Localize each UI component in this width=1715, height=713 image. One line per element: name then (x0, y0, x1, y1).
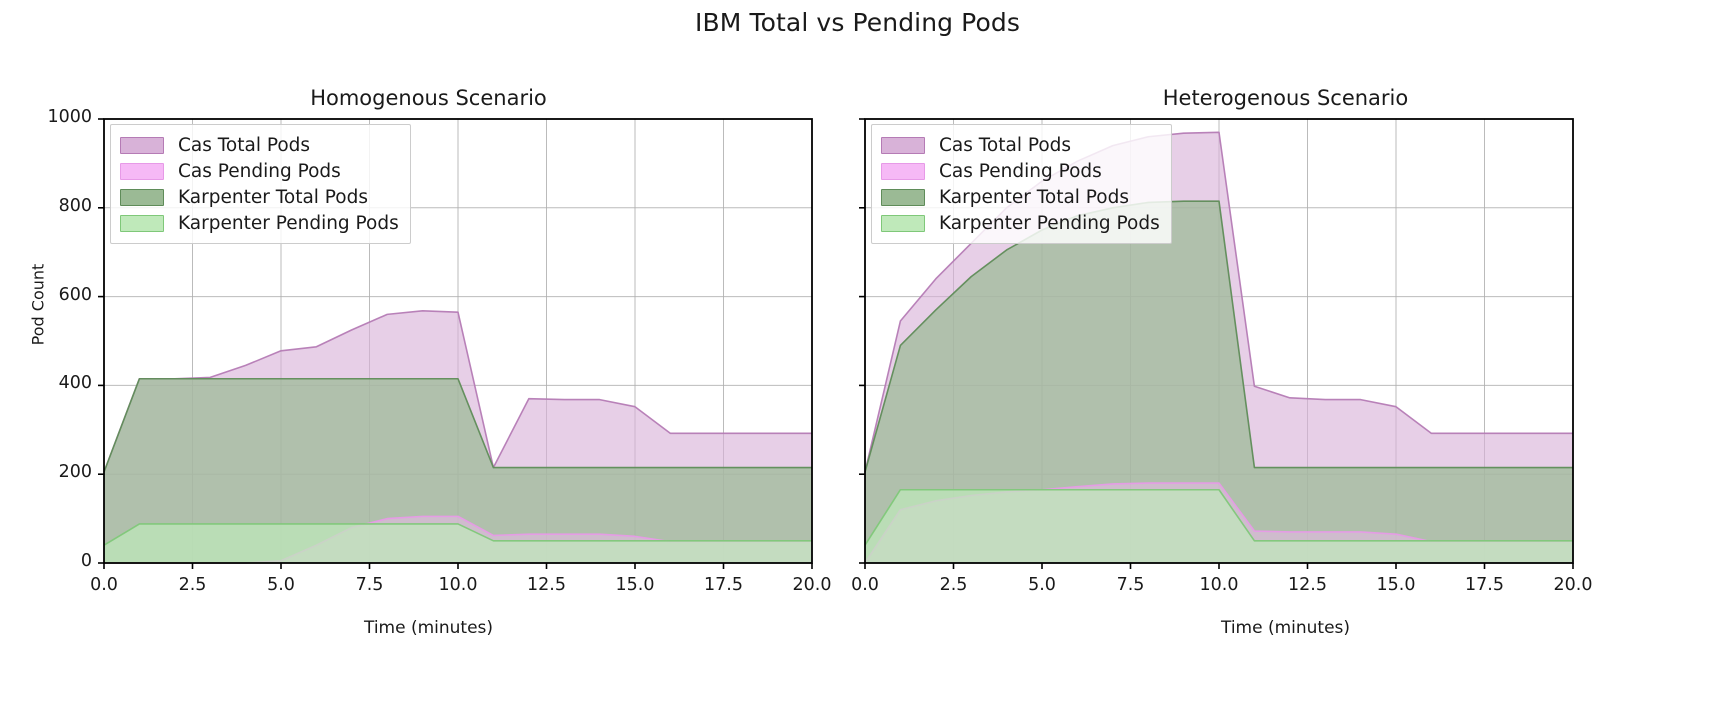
legend-label: Karpenter Pending Pods (939, 213, 1160, 234)
legend-swatch-icon (881, 215, 925, 232)
legend-label: Cas Total Pods (939, 135, 1071, 156)
x-tick-label: 15.0 (600, 575, 670, 595)
legend-item[interactable]: Karpenter Pending Pods (881, 210, 1160, 236)
x-tick-label: 5.0 (1007, 575, 1077, 595)
x-tick-label: 10.0 (423, 575, 493, 595)
x-tick-label: 2.5 (158, 575, 228, 595)
legend-label: Karpenter Total Pods (178, 187, 368, 208)
legend-swatch-icon (120, 215, 164, 232)
y-tick-label: 1000 (30, 107, 92, 127)
subplot-heterogenous: Heterogenous Scenario Time (minutes) Cas… (857, 0, 1714, 713)
legend-label: Karpenter Pending Pods (178, 213, 399, 234)
x-tick-label: 7.5 (1096, 575, 1166, 595)
x-tick-label: 5.0 (246, 575, 316, 595)
legend-label: Cas Total Pods (178, 135, 310, 156)
legend-swatch-icon (120, 189, 164, 206)
legend-item[interactable]: Cas Total Pods (881, 132, 1160, 158)
legend-heterogenous: Cas Total PodsCas Pending PodsKarpenter … (871, 124, 1172, 244)
x-tick-label: 17.5 (1450, 575, 1520, 595)
y-tick-label: 400 (30, 373, 92, 393)
legend-item[interactable]: Cas Pending Pods (120, 158, 399, 184)
y-tick-label: 200 (30, 462, 92, 482)
y-tick-label: 600 (30, 285, 92, 305)
legend-homogenous: Cas Total PodsCas Pending PodsKarpenter … (110, 124, 411, 244)
plot-area-heterogenous (857, 0, 1714, 713)
figure-root: IBM Total vs Pending Pods Homogenous Sce… (0, 0, 1715, 713)
x-tick-label: 0.0 (830, 575, 900, 595)
legend-swatch-icon (881, 163, 925, 180)
legend-label: Cas Pending Pods (178, 161, 341, 182)
legend-item[interactable]: Karpenter Pending Pods (120, 210, 399, 236)
x-tick-label: 10.0 (1184, 575, 1254, 595)
x-tick-label: 0.0 (69, 575, 139, 595)
x-tick-label: 7.5 (335, 575, 405, 595)
legend-label: Karpenter Total Pods (939, 187, 1129, 208)
x-tick-label: 12.5 (1273, 575, 1343, 595)
x-tick-label: 12.5 (512, 575, 582, 595)
legend-swatch-icon (120, 163, 164, 180)
y-tick-label: 800 (30, 196, 92, 216)
plot-area-homogenous (0, 0, 857, 713)
subplot-homogenous: Homogenous Scenario Pod Count Time (minu… (0, 0, 857, 713)
x-tick-label: 15.0 (1361, 575, 1431, 595)
x-tick-label: 2.5 (919, 575, 989, 595)
legend-item[interactable]: Cas Pending Pods (881, 158, 1160, 184)
legend-item[interactable]: Cas Total Pods (120, 132, 399, 158)
legend-swatch-icon (881, 137, 925, 154)
legend-swatch-icon (881, 189, 925, 206)
x-tick-label: 20.0 (1538, 575, 1608, 595)
legend-label: Cas Pending Pods (939, 161, 1102, 182)
y-tick-label: 0 (30, 551, 92, 571)
x-tick-label: 17.5 (689, 575, 759, 595)
legend-swatch-icon (120, 137, 164, 154)
legend-item[interactable]: Karpenter Total Pods (881, 184, 1160, 210)
legend-item[interactable]: Karpenter Total Pods (120, 184, 399, 210)
